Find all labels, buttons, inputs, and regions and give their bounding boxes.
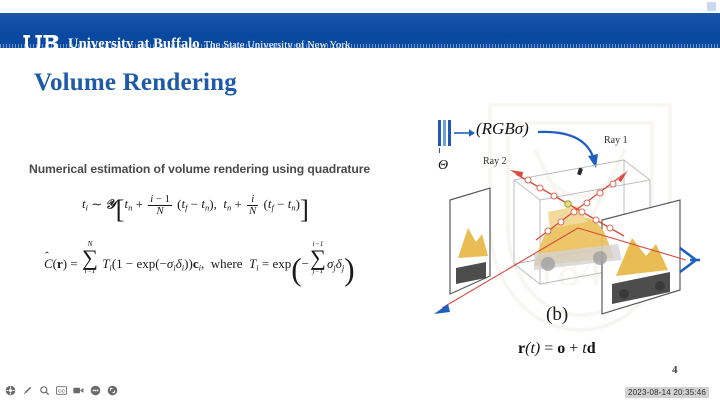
nerf-ray-diagram: (RGBσ) Θ [428, 108, 720, 378]
image-plane-left [450, 188, 490, 294]
ray-2-arrowhead [510, 170, 523, 178]
page-title: Volume Rendering [34, 69, 237, 97]
search-icon[interactable] [39, 385, 50, 396]
subheading: Numerical estimation of volume rendering… [29, 162, 370, 176]
ray-equation: r(t) = o + td [518, 340, 596, 358]
settings-icon[interactable] [5, 385, 16, 396]
svg-text:CC: CC [58, 388, 66, 394]
pen-icon[interactable] [22, 385, 33, 396]
fullscreen-icon[interactable] [107, 385, 118, 396]
timestamp-badge: 2023-08-14 20:35:46 [625, 387, 709, 398]
camera-ray-right-arrowhead [680, 248, 700, 272]
player-toolbar: CC [5, 385, 118, 396]
figure-panel-label: (b) [546, 304, 568, 326]
volume-scene-svg [428, 108, 720, 378]
slide-viewer: University at BuffaloThe State Universit… [0, 0, 720, 405]
ray-1-label: Ray 1 [604, 135, 628, 146]
more-options-icon[interactable] [90, 385, 101, 396]
closed-caption-icon[interactable]: CC [56, 385, 67, 396]
window-control-chip[interactable] [707, 2, 716, 11]
equation-volume-rendering: ˆC(r) = N∑i=1 Ti(1 − exp(−σiδi))ci, wher… [44, 240, 355, 288]
page-number: 4 [672, 364, 678, 376]
branding-header: University at BuffaloThe State Universit… [0, 13, 720, 48]
top-strip [0, 0, 720, 13]
camera-ray-left-arrowhead [434, 304, 450, 314]
slide-canvas: 1846 Volume Rendering Numerical estimati… [0, 48, 720, 378]
equation-quadrature-sampling: ti ∼ 𝒴[tn + i − 1N (tf − tn), tn + iN (t… [82, 194, 309, 225]
video-camera-icon[interactable] [73, 385, 84, 396]
ray-2-label: Ray 2 [483, 156, 507, 167]
ray-1-arrowhead [618, 170, 628, 182]
